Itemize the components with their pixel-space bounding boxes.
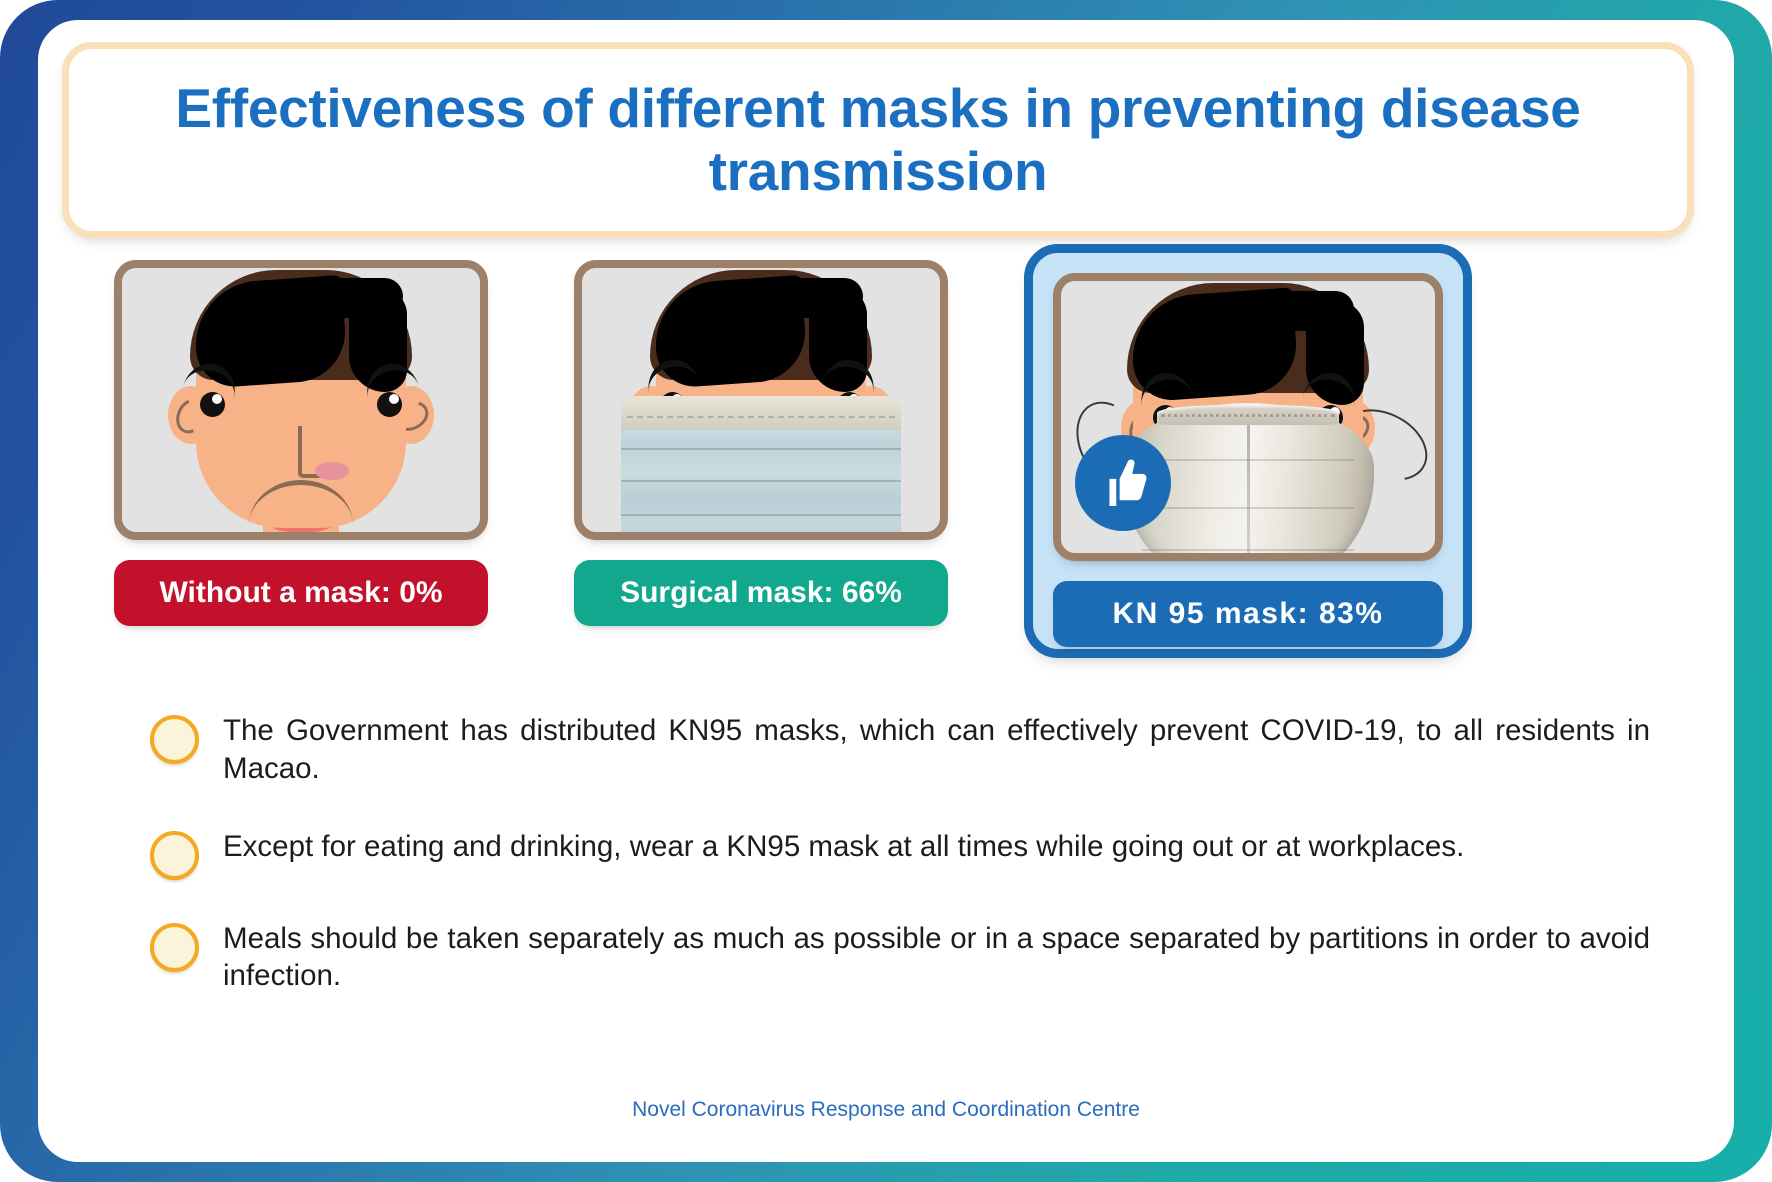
bullet-text: The Government has distributed KN95 mask… (223, 712, 1650, 788)
poster-card: Effectiveness of different masks in prev… (38, 20, 1734, 1162)
list-item: The Government has distributed KN95 mask… (150, 712, 1650, 788)
mask-comparison-row: Without a mask: 0% (38, 260, 1734, 670)
thumbs-up-icon (1075, 435, 1171, 531)
list-item: Meals should be taken separately as much… (150, 920, 1650, 996)
bullet-text: Except for eating and drinking, wear a K… (223, 828, 1464, 866)
panel-without-mask[interactable]: Without a mask: 0% (114, 260, 488, 626)
bullet-dot-icon (150, 715, 199, 764)
bullet-text: Meals should be taken separately as much… (223, 920, 1650, 996)
cartoon-face-icon (582, 268, 940, 532)
poster-frame: Effectiveness of different masks in prev… (0, 0, 1772, 1182)
photo-without-mask (114, 260, 488, 540)
list-item: Except for eating and drinking, wear a K… (150, 828, 1650, 880)
footer-attribution: Novel Coronavirus Response and Coordinat… (38, 1098, 1734, 1122)
photo-surgical-mask (574, 260, 948, 540)
status-badge-kn95-mask: KN 95 mask: 83% (1053, 581, 1443, 647)
title-card: Effectiveness of different masks in prev… (62, 42, 1694, 238)
bullet-list: The Government has distributed KN95 mask… (150, 712, 1650, 1035)
photo-kn95-mask (1053, 273, 1443, 561)
status-badge-surgical-mask: Surgical mask: 66% (574, 560, 948, 626)
cartoon-face-icon (122, 268, 480, 532)
bullet-dot-icon (150, 923, 199, 972)
bullet-dot-icon (150, 831, 199, 880)
surgical-mask-icon (621, 396, 901, 540)
status-badge-without-mask: Without a mask: 0% (114, 560, 488, 626)
panel-kn95-mask[interactable]: KN 95 mask: 83% (1024, 244, 1472, 658)
page-title: Effectiveness of different masks in prev… (69, 77, 1687, 204)
panel-surgical-mask[interactable]: Surgical mask: 66% (574, 260, 948, 626)
